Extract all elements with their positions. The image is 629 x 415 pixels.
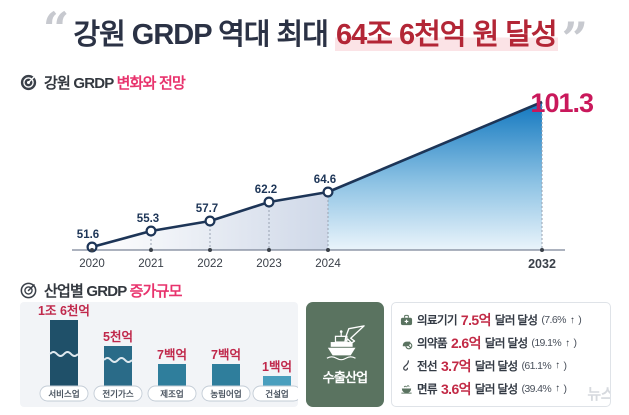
bar-2 [158,364,186,386]
bar-chart-svg: 1조 6천억 5천억 7백억 7백억 1백억 서비스업 전기가스 제조업 농림어… [20,302,298,407]
export-item-amount: 3.6억 [441,379,471,399]
section-title-line: 강원 GRDP 변화와 전망 [44,72,185,93]
export-item-pct: (7.6% [541,314,565,326]
area-future [328,102,542,250]
headline-prefix: 강원 GRDP 역대 최대 [73,19,335,51]
bar-value-2: 7백억 [157,347,187,362]
export-item-name: 의료기기 [417,312,457,328]
line-chart-svg: 51.6 55.3 57.7 62.2 64.6 2020 2021 2022 … [20,92,615,272]
section-title-line-highlight: 변화와 전망 [117,75,185,92]
target-circle-icon [20,282,37,299]
export-item-unit: 달러 달성 [495,312,538,328]
export-item-unit: 달러 달성 [485,335,528,351]
export-item-name: 의약품 [417,335,447,351]
x-tick-labels: 2020 2021 2022 2023 2024 2032 [79,257,556,271]
x-tick-2032: 2032 [528,257,556,271]
export-item-pct: (61.1% [521,360,551,372]
section-title-bar-highlight: 증가규모 [130,283,182,300]
headline-text: 강원 GRDP 역대 최대 64조 6천억 원 달성 [73,20,557,50]
infographic-page: “ 강원 GRDP 역대 최대 64조 6천억 원 달성 ” 강원 GRDP 변… [0,0,629,415]
bar-category-4: 건설업 [265,389,288,399]
bar-category-0: 서비스업 [48,389,79,399]
export-item-close: ) [564,360,567,372]
export-industry-panel: 수출산업 의료기기 7.5억 달러 달성 (7.6% ↑ ) [306,302,611,407]
section-header-line-chart: 강원 GRDP 변화와 전망 [20,72,185,93]
quote-close-icon: ” [562,16,586,62]
bar-value-1: 5천억 [103,329,133,344]
section-title-bar: 산업별 GRDP 증가규모 [44,280,182,301]
headline-highlight: 64조 6천억 원 달성 [335,19,558,51]
bar-1 [104,346,132,386]
export-item-amount: 7.5억 [461,310,491,330]
data-point-2024 [324,188,333,197]
value-label-2024: 64.6 [314,174,336,186]
quote-open-icon: “ [43,6,67,52]
arrow-up-icon: ↑ [565,338,569,349]
bar-4 [263,376,291,386]
grdp-line-chart: 51.6 55.3 57.7 62.2 64.6 2020 2021 2022 … [20,92,615,272]
data-point-2023 [265,198,274,207]
export-item-pct: (19.1% [531,337,561,349]
export-item-pct: (39.4% [521,383,551,395]
list-item: 의약품 2.6억 달러 달성 (19.1% ↑ ) [400,333,604,353]
section-header-bar-chart: 산업별 GRDP 증가규모 [20,280,182,301]
arrow-up-icon: ↑ [570,315,574,326]
list-item: 면류 3.6억 달러 달성 (39.4% ↑ ) [400,379,604,399]
export-item-close: ) [574,337,577,349]
export-item-name: 면류 [417,381,437,397]
data-point-2022 [206,217,215,226]
ship-plane-icon [322,323,368,363]
value-label-2022: 57.7 [196,203,218,215]
list-item: 전선 3.7억 달러 달성 (61.1% ↑ ) [400,356,604,376]
arrow-up-icon: ↑ [555,360,559,371]
bar-value-0: 1조 6천억 [38,303,90,318]
export-box-label: 수출산업 [323,367,368,386]
data-point-2021 [147,227,156,236]
pharmaceutical-icon [400,337,413,350]
value-label-2020: 51.6 [77,229,99,241]
medical-device-icon [400,314,413,327]
bar-category-3: 농림어업 [210,389,241,399]
bar-category-2: 제조업 [160,389,183,399]
section-title-line-prefix: 강원 GRDP [44,75,117,92]
export-item-amount: 2.6억 [451,333,481,353]
export-items-list: 의료기기 7.5억 달러 달성 (7.6% ↑ ) 의약품 2.6억 달러 달성 [391,302,611,407]
list-item: 의료기기 7.5억 달러 달성 (7.6% ↑ ) [400,310,604,330]
bar-value-4: 1백억 [262,359,292,374]
section-title-bar-prefix: 산업별 GRDP [44,283,130,300]
x-tick-2024: 2024 [315,258,341,270]
x-tick-2020: 2020 [79,258,105,270]
export-item-name: 전선 [417,358,437,374]
noodle-bowl-icon [400,382,413,395]
arrow-up-icon: ↑ [555,383,559,394]
value-label-2023: 62.2 [255,184,277,196]
industry-bar-chart: 1조 6천억 5천억 7백억 7백억 1백억 서비스업 전기가스 제조업 농림어… [20,302,298,407]
export-item-unit: 달러 달성 [475,381,518,397]
export-item-close: ) [564,383,567,395]
export-item-unit: 달러 달성 [475,358,518,374]
export-item-amount: 3.7억 [441,356,471,376]
target-circle-icon [20,74,37,91]
export-item-close: ) [578,314,581,326]
bar-3 [212,364,240,386]
forecast-value-label: 101.3 [530,88,593,119]
cable-wire-icon [400,359,413,372]
x-tick-2022: 2022 [197,258,223,270]
page-title: “ 강원 GRDP 역대 최대 64조 6천억 원 달성 ” [0,4,629,66]
bar-value-3: 7백억 [211,347,241,362]
value-label-2021: 55.3 [137,213,159,225]
x-tick-2023: 2023 [256,258,282,270]
export-industry-box: 수출산업 [306,302,384,407]
x-tick-2021: 2021 [138,258,164,270]
bar-category-1: 전기가스 [102,389,133,399]
